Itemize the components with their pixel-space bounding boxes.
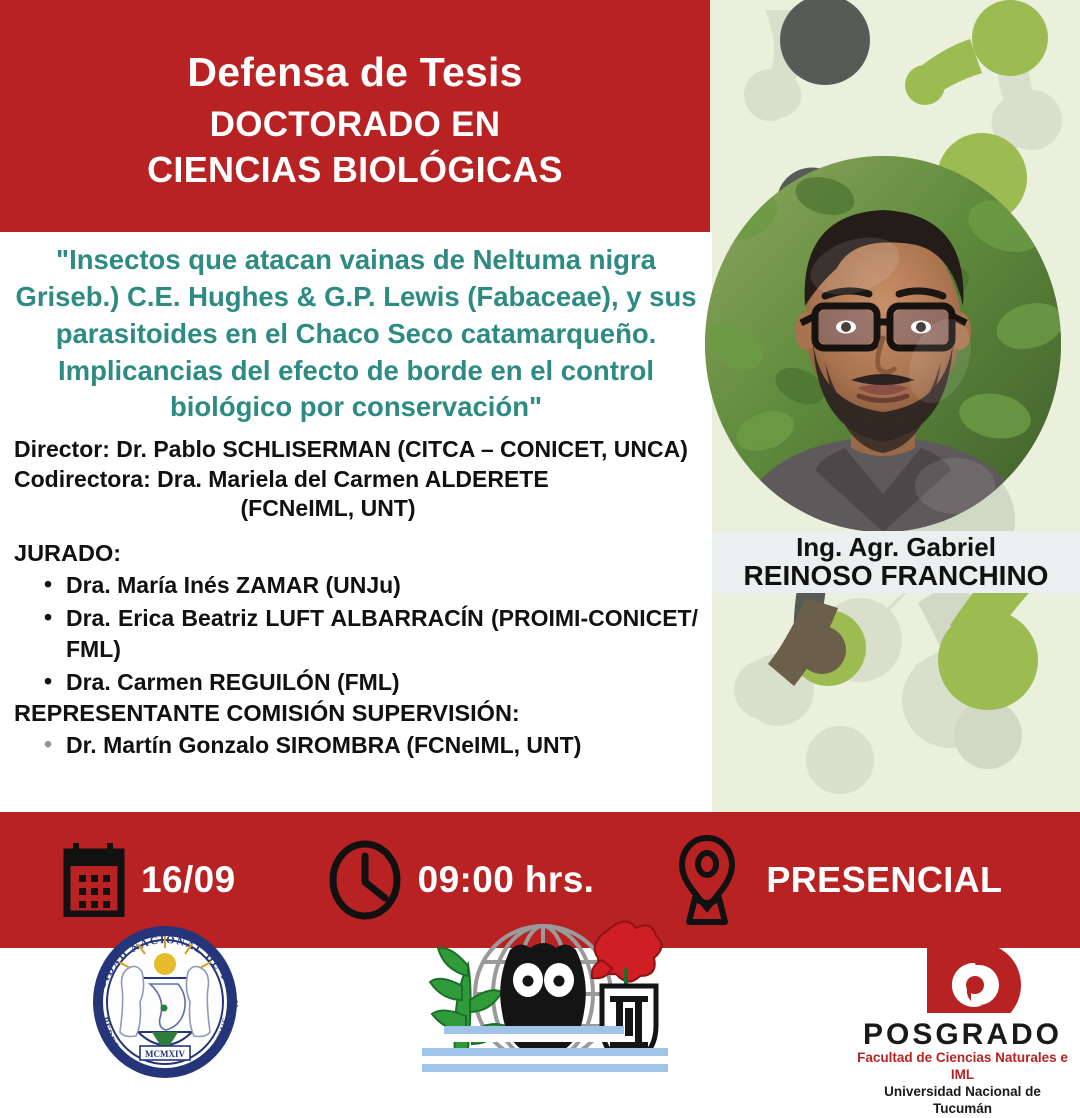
codirector-affiliation: (FCNeIML, UNT) xyxy=(14,494,702,523)
posgrado-wordmark: POSGRADO xyxy=(855,1020,1070,1050)
posgrado-faculty-line: Facultad de Ciencias Naturales e IML xyxy=(855,1050,1070,1084)
header-line-3: CIENCIAS BIOLÓGICAS xyxy=(147,147,563,194)
location-pin-icon xyxy=(676,834,738,926)
candidate-photo xyxy=(705,156,1061,532)
posgrado-university-line: Universidad Nacional de Tucumán xyxy=(855,1084,1070,1118)
svg-text:MCMXIV: MCMXIV xyxy=(145,1049,185,1059)
list-item: Dra. Erica Beatriz LUFT ALBARRACÍN (PROI… xyxy=(44,603,698,664)
supervision-committee-list: Dr. Martín Gonzalo SIROMBRA (FCNeIML, UN… xyxy=(10,730,702,761)
jury-heading: JURADO: xyxy=(10,540,702,567)
calendar-icon xyxy=(63,843,125,917)
codirector-line: Codirectora: Dra. Mariela del Carmen ALD… xyxy=(14,465,702,494)
unt-seal-icon: UNIVERSIDAD NACIONAL DE TUCUMAN PEDES IN… xyxy=(78,912,253,1080)
footer-logos: UNIVERSIDAD NACIONAL DE TUCUMAN PEDES IN… xyxy=(0,948,1080,1080)
header-line-1: Defensa de Tesis xyxy=(187,48,522,96)
poster-body: "Insectos que atacan vainas de Neltuma n… xyxy=(0,232,712,812)
event-date-text: 16/09 xyxy=(141,859,236,901)
candidate-name-line-1: Ing. Agr. Gabriel xyxy=(796,533,996,561)
list-item: Dra. Carmen REGUILÓN (FML) xyxy=(44,667,698,698)
posgrado-spiral-icon xyxy=(855,941,1070,1013)
event-modality-block: PRESENCIAL xyxy=(676,834,1002,926)
event-time-text: 09:00 hrs. xyxy=(418,859,595,901)
posgrado-logo: POSGRADO Facultad de Ciencias Naturales … xyxy=(855,941,1070,1073)
director-line: Director: Dr. Pablo SCHLISERMAN (CITCA –… xyxy=(14,435,702,464)
candidate-name-line-2: REINOSO FRANCHINO xyxy=(744,561,1049,591)
header-line-2: DOCTORADO EN xyxy=(210,102,501,148)
thesis-title: "Insectos que atacan vainas de Neltuma n… xyxy=(10,238,702,426)
jury-list: Dra. María Inés ZAMAR (UNJu) Dra. Erica … xyxy=(10,570,702,698)
supervision-committee-heading: REPRESENTANTE COMISIÓN SUPERVISIÓN: xyxy=(10,700,702,727)
portrait-photo-graphic xyxy=(705,156,1061,532)
event-date-block: 16/09 xyxy=(63,843,236,917)
list-item: Dr. Martín Gonzalo SIROMBRA (FCNeIML, UN… xyxy=(44,730,698,761)
clock-icon xyxy=(328,840,402,920)
event-modality-text: PRESENCIAL xyxy=(766,859,1002,901)
faculty-owl-globe-icon xyxy=(404,908,682,1080)
candidate-name-band: Ing. Agr. Gabriel REINOSO FRANCHINO xyxy=(712,531,1080,593)
poster-header: Defensa de Tesis DOCTORADO EN CIENCIAS B… xyxy=(0,0,710,232)
list-item: Dra. María Inés ZAMAR (UNJu) xyxy=(44,570,698,601)
supervision-block: Director: Dr. Pablo SCHLISERMAN (CITCA –… xyxy=(10,435,702,523)
